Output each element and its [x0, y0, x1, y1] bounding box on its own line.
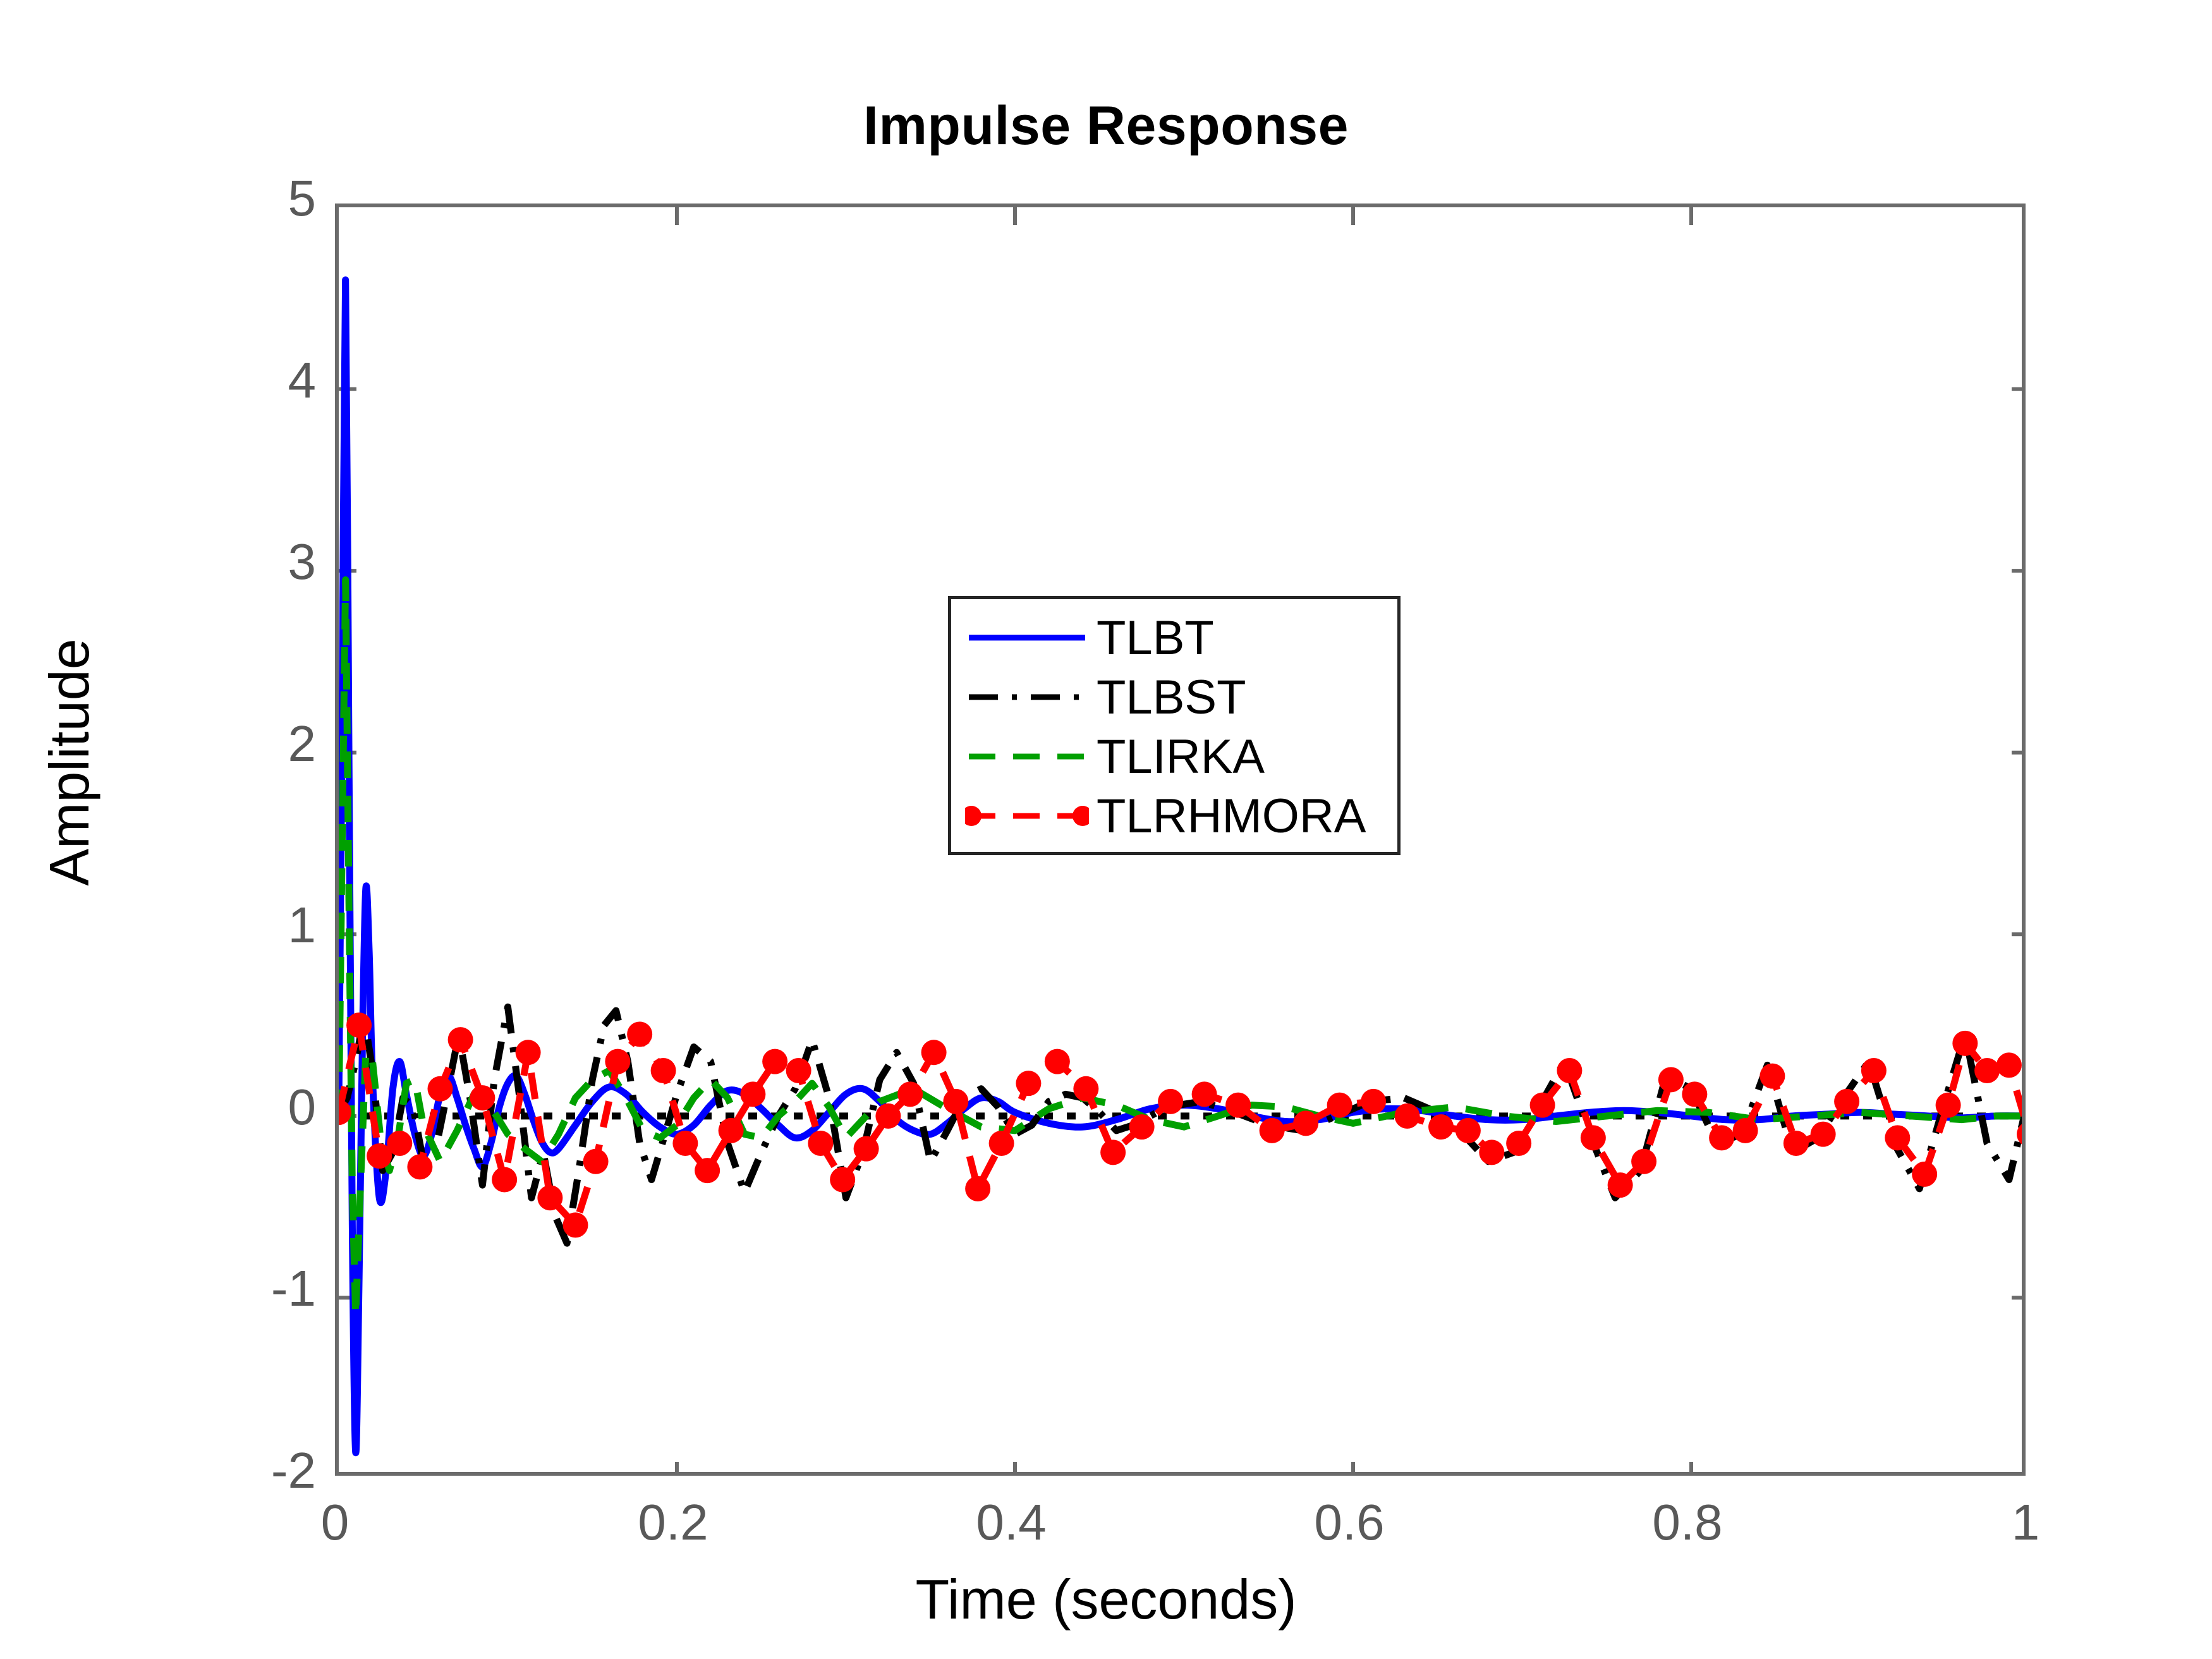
legend-line-sample-icon: [965, 786, 1089, 846]
impulse-response-figure: Impulse Response 543210-1-2 00.20.40.60.…: [0, 0, 2212, 1659]
x-tick-label: 0.6: [1267, 1493, 1431, 1552]
legend-item-tlbt[interactable]: TLBT: [951, 608, 1397, 667]
y-axis-title: Amplitude: [37, 446, 102, 1078]
x-tick-label: 1: [1943, 1493, 2108, 1552]
legend-label: TLBT: [1097, 611, 1214, 665]
y-tick-label: 4: [190, 351, 316, 410]
legend-label: TLRHMORA: [1097, 789, 1366, 844]
y-tick-label: 2: [190, 715, 316, 773]
legend-line-sample-icon: [965, 608, 1089, 667]
y-tick-label: 3: [190, 533, 316, 591]
legend-item-tlirka[interactable]: TLIRKA: [951, 727, 1397, 786]
x-axis-title: Time (seconds): [0, 1567, 2212, 1632]
legend-line-sample-icon: [965, 727, 1089, 786]
y-tick-label: 0: [190, 1078, 316, 1136]
y-tick-label: 5: [190, 169, 316, 228]
y-tick-label: 1: [190, 896, 316, 954]
x-tick-label: 0: [253, 1493, 417, 1552]
chart-title: Impulse Response: [0, 95, 2212, 157]
y-tick-label: -2: [190, 1442, 316, 1500]
x-tick-label: 0.8: [1605, 1493, 1770, 1552]
legend-item-tlrhmora[interactable]: TLRHMORA: [951, 786, 1397, 846]
legend-box: TLBTTLBSTTLIRKATLRHMORA: [948, 596, 1401, 855]
legend-label: TLBST: [1097, 670, 1246, 725]
legend-label: TLIRKA: [1097, 729, 1265, 784]
y-tick-label: -1: [190, 1260, 316, 1318]
x-tick-label: 0.4: [929, 1493, 1093, 1552]
legend-item-tlbst[interactable]: TLBST: [951, 667, 1397, 727]
x-tick-label: 0.2: [591, 1493, 755, 1552]
legend-line-sample-icon: [965, 667, 1089, 727]
